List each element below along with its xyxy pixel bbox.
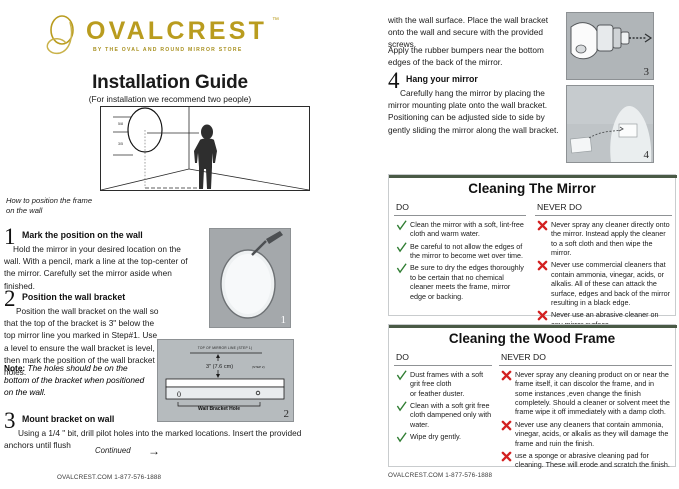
cross-icon (501, 451, 512, 462)
check-icon (396, 370, 407, 381)
bracket-diagram: TOP OF MIRROR LINE (STEP 1) 3" (7.6 cm) … (157, 339, 294, 422)
mirror-photo-number: 1 (281, 314, 287, 326)
step-2-note-text: The holes should be on the bottom of the… (4, 363, 144, 397)
oval-mirror-icon (210, 229, 290, 327)
panel-2-never-header: NEVER DO (501, 352, 546, 362)
list-item-text: Never use commercial cleaners that conta… (551, 260, 671, 307)
list-item-text: Be careful to not allow the edges of the… (410, 242, 526, 261)
panel-1-top-rule (389, 175, 677, 178)
panel-1-do-header: DO (396, 202, 409, 212)
check-icon (396, 432, 407, 443)
step-4-body: Carefully hang the mirror by placing the… (388, 87, 560, 136)
list-item: Be careful to not allow the edges of the… (396, 242, 526, 261)
panel-1-never-list: Never spray any cleaner directly onto th… (537, 220, 671, 332)
step-2-note-label: Note: (4, 363, 25, 373)
footer-left: OVALCREST.COM 1-877-576-1888 (57, 474, 161, 481)
brand-trademark: ™ (272, 17, 279, 24)
right-column: with the wall surface. Place the wall br… (388, 0, 679, 489)
panel-cleaning-wood-frame: Cleaning the Wood Frame DO NEVER DO Dust… (388, 324, 676, 467)
panel-2-title: Cleaning the Wood Frame (389, 331, 675, 346)
list-item: Never use any cleaners that contain ammo… (501, 420, 671, 448)
panel-2-never-list: Never spray any cleaning product on or n… (501, 370, 671, 473)
cross-icon (537, 310, 548, 321)
hang-mirror-photo-number: 4 (644, 149, 650, 161)
svg-text:(STEP 2): (STEP 2) (252, 365, 265, 369)
panel-1-do-list: Clean the mirror with a soft, lint-free … (396, 220, 526, 304)
list-item-text: Clean the mirror with a soft, lint-free … (410, 220, 526, 239)
list-item-text: use a sponge or abrasive cleaning pad fo… (515, 451, 671, 470)
mirror-mounting-icon (567, 86, 653, 162)
panel-2-do-list: Dust frames with a soft grit free cloth … (396, 370, 492, 445)
drill-icon (567, 13, 653, 79)
mirror-photo: 1 (209, 228, 291, 328)
panel-2-never-rule (499, 365, 672, 366)
left-column: OVALCREST ™ BY THE OVAL AND ROUND MIRROR… (0, 0, 372, 489)
list-item: Clean with a soft grit free cloth dampen… (396, 401, 492, 429)
check-icon (396, 401, 407, 412)
footer-right: OVALCREST.COM 1-877-576-1888 (388, 472, 492, 479)
svg-text:TOP OF MIRROR LINE (STEP 1): TOP OF MIRROR LINE (STEP 1) (198, 346, 253, 350)
page-subtitle: (For installation we recommend two peopl… (0, 94, 340, 104)
list-item: Be sure to dry the edges thoroughly to b… (396, 263, 526, 300)
check-icon (396, 263, 407, 274)
list-item-text: Never spray any cleaner directly onto th… (551, 220, 671, 257)
wall-bracket-diagram-icon: TOP OF MIRROR LINE (STEP 1) 3" (7.6 cm) … (158, 340, 293, 421)
panel-1-never-rule (535, 215, 672, 216)
right-paragraph-2: Apply the rubber bumpers near the bottom… (388, 44, 560, 68)
list-item-text: Wipe dry gently. (410, 432, 492, 441)
list-item-text: Clean with a soft grit free cloth dampen… (410, 401, 492, 429)
bracket-diagram-number: 2 (284, 408, 290, 420)
step-2-note: Note: The holes should be on the bottom … (4, 362, 154, 399)
list-item: Clean the mirror with a soft, lint-free … (396, 220, 526, 239)
panel-2-do-header: DO (396, 352, 409, 362)
continued-arrow-icon: → (148, 444, 160, 458)
brand-logo: OVALCREST ™ BY THE OVAL AND ROUND MIRROR… (40, 14, 300, 58)
brand-wordmark: OVALCREST (86, 17, 267, 46)
step-1-body: Hold the mirror in your desired location… (4, 243, 197, 292)
list-item: Never spray any cleaning product on or n… (501, 370, 671, 417)
svg-text:3/5: 3/5 (118, 142, 123, 146)
list-item: use a sponge or abrasive cleaning pad fo… (501, 451, 671, 470)
step-4-heading: Hang your mirror (406, 74, 478, 84)
svg-text:3" (7.6 cm): 3" (7.6 cm) (206, 364, 233, 370)
list-item: Dust frames with a soft grit free cloth … (396, 370, 492, 398)
list-item-text: Never use any cleaners that contain ammo… (515, 420, 671, 448)
panel-cleaning-mirror: Cleaning The Mirror DO NEVER DO Clean th… (388, 174, 676, 316)
brand-tagline: BY THE OVAL AND ROUND MIRROR STORE (93, 47, 242, 53)
room-diagram-icon: 5/8 3/5 (101, 107, 309, 190)
panel-2-top-rule (389, 325, 677, 328)
cross-icon (537, 260, 548, 271)
list-item: Wipe dry gently. (396, 432, 492, 441)
list-item: Never spray any cleaner directly onto th… (537, 220, 671, 257)
installation-guide-page: OVALCREST ™ BY THE OVAL AND ROUND MIRROR… (0, 0, 679, 489)
oval-monogram-icon (40, 14, 84, 56)
panel-2-do-rule (394, 365, 492, 366)
drill-photo-number: 3 (644, 66, 650, 78)
step-3-heading: Mount bracket on wall (22, 414, 114, 424)
cross-icon (501, 370, 512, 381)
list-item-text: Be sure to dry the edges thoroughly to b… (410, 263, 526, 300)
continued-label: Continued (95, 446, 131, 455)
svg-text:0: 0 (177, 390, 181, 399)
figure-caption: How to position the frame on the wall (6, 196, 94, 217)
check-icon (396, 220, 407, 231)
drill-photo: 3 (566, 12, 654, 80)
list-item-text: Never spray any cleaning product on or n… (515, 370, 671, 417)
cross-icon (501, 420, 512, 431)
panel-1-do-rule (394, 215, 526, 216)
panel-1-never-header: NEVER DO (537, 202, 582, 212)
svg-text:5/8: 5/8 (118, 122, 123, 126)
list-item-text: Dust frames with a soft grit free cloth … (410, 370, 492, 398)
room-positioning-figure: 5/8 3/5 (100, 106, 310, 191)
page-title: Installation Guide (0, 72, 340, 94)
check-icon (396, 242, 407, 253)
step-1-heading: Mark the position on the wall (22, 230, 143, 240)
panel-1-title: Cleaning The Mirror (389, 181, 675, 196)
step-2-heading: Position the wall bracket (22, 292, 125, 302)
hang-mirror-photo: 4 (566, 85, 654, 163)
svg-text:Wall Bracket Hole: Wall Bracket Hole (198, 406, 240, 412)
cross-icon (537, 220, 548, 231)
list-item: Never use commercial cleaners that conta… (537, 260, 671, 307)
